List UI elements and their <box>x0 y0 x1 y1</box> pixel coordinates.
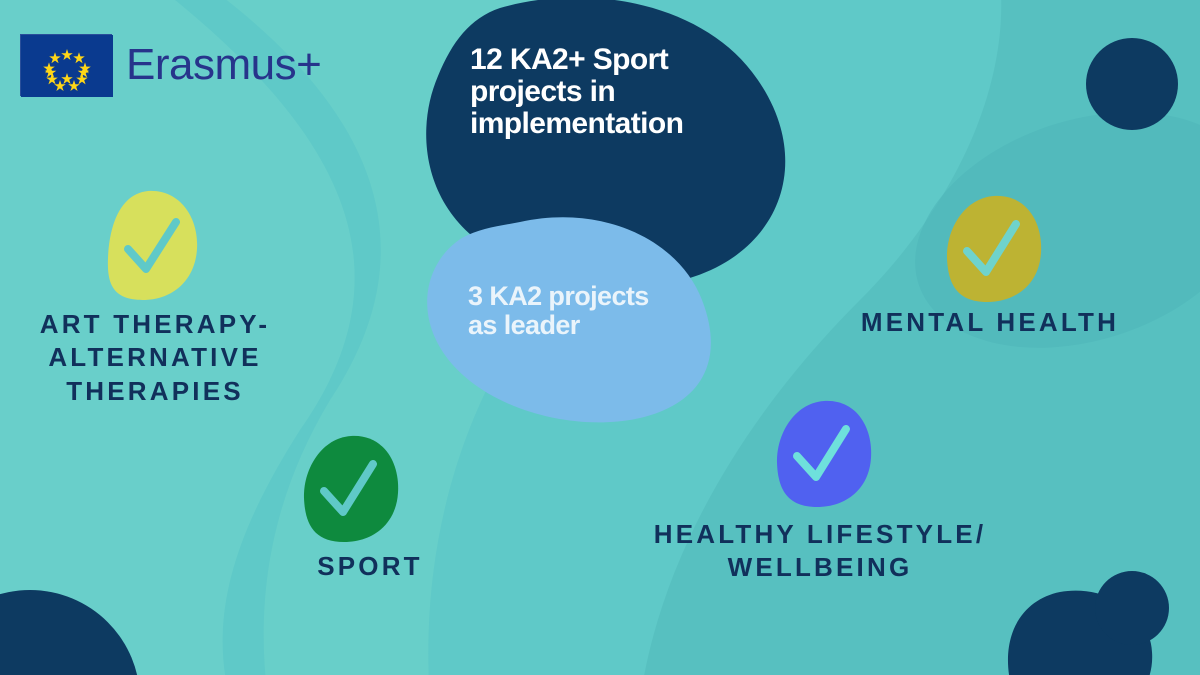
ka2-sport-projects-callout-text: 12 KA2+ Sport projects in implementation <box>470 44 760 139</box>
category-label-healthy-lifestyle: HEALTHY LIFESTYLE/ WELLBEING <box>600 518 1040 585</box>
ka2-leader-callout-text: 3 KA2 projects as leader <box>468 282 728 339</box>
erasmus-plus-branding: Erasmus+ <box>20 34 321 96</box>
navy-circle-bottom-right <box>1095 571 1169 645</box>
european-union-flag-icon <box>20 34 112 96</box>
erasmus-plus-wordmark: Erasmus+ <box>126 43 321 87</box>
category-label-art-therapy: ART THERAPY- ALTERNATIVE THERAPIES <box>0 308 310 408</box>
navy-circle-top-right <box>1086 38 1178 130</box>
infographic-canvas: Erasmus+ 12 KA2+ Sport projects in imple… <box>0 0 1200 675</box>
category-label-mental-health: MENTAL HEALTH <box>820 306 1160 339</box>
category-label-sport: SPORT <box>240 550 500 583</box>
